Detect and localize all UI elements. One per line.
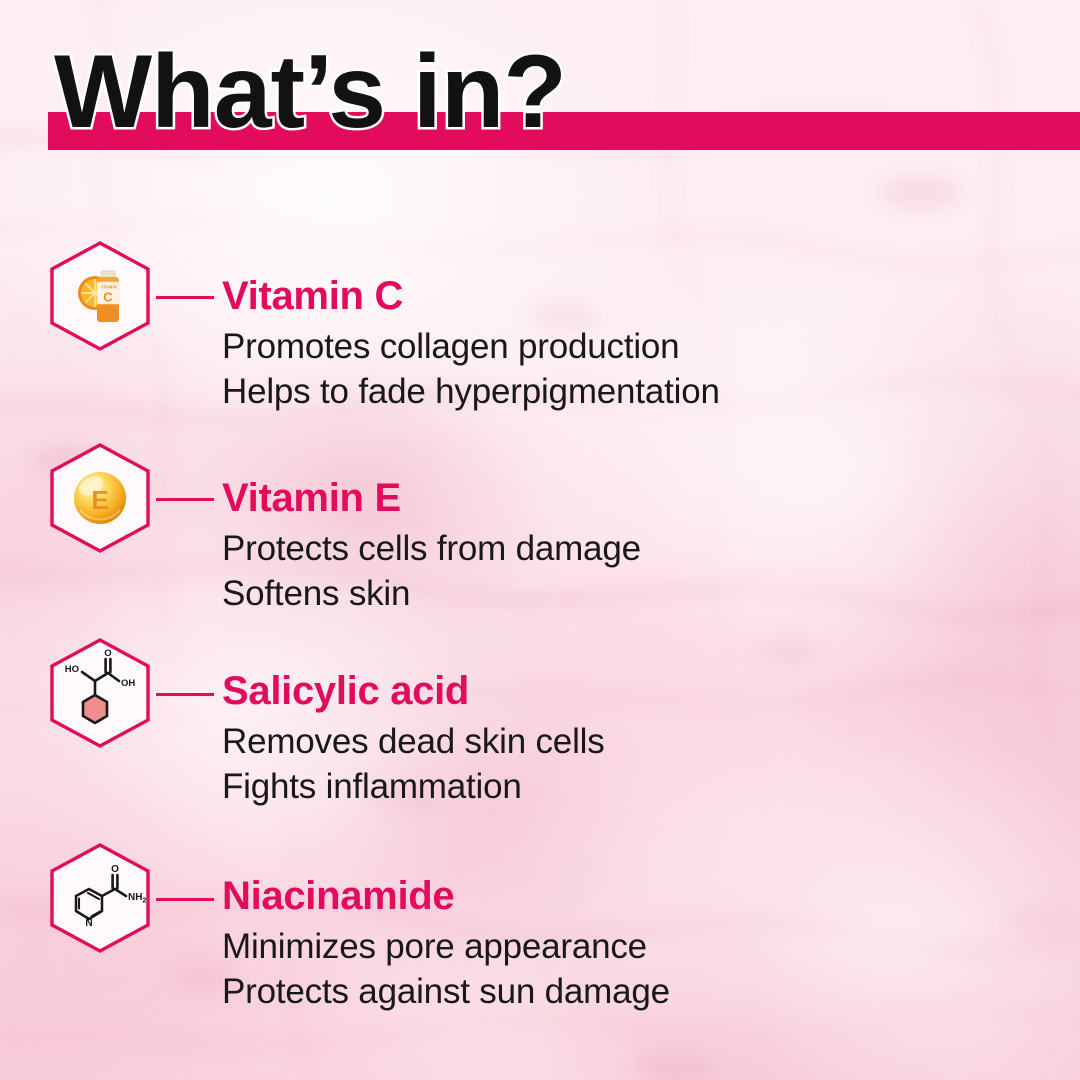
vitamin-e-capsule-icon: E: [48, 442, 152, 554]
poster-canvas: What’s in?: [0, 0, 1080, 1080]
ingredient-text-salicylic-acid: Salicylic acid Removes dead skin cells F…: [222, 671, 1002, 809]
ingredient-name: Vitamin E: [222, 478, 1002, 518]
salicylic-acid-molecule-icon: HO O OH: [48, 637, 152, 749]
label-ho: HO: [65, 664, 79, 675]
label-n: N: [85, 918, 92, 929]
ingredient-list: VITAMIN C Vitamin C Promotes collagen pr…: [0, 0, 1080, 1080]
ingredient-benefit: Minimizes pore appearance: [222, 924, 1002, 969]
connector-line-salicylic-acid: [156, 693, 214, 696]
connector-line-vitamin-c: [156, 296, 214, 299]
ingredient-benefit: Protects cells from damage: [222, 526, 1002, 571]
label-oh: OH: [121, 678, 135, 689]
connector-line-vitamin-e: [156, 498, 214, 501]
ingredient-benefit: Promotes collagen production: [222, 324, 1002, 369]
label-o: O: [104, 648, 111, 659]
svg-text:C: C: [103, 289, 113, 304]
vitamin-c-bottle-orange-icon: VITAMIN C: [48, 240, 152, 352]
ingredient-benefit: Protects against sun damage: [222, 969, 1002, 1014]
ingredient-text-vitamin-c: Vitamin C Promotes collagen production H…: [222, 276, 1002, 414]
svg-text:E: E: [91, 485, 108, 515]
ingredient-benefit: Removes dead skin cells: [222, 719, 1002, 764]
ingredient-benefit: Helps to fade hyperpigmentation: [222, 369, 1002, 414]
ingredient-text-niacinamide: Niacinamide Minimizes pore appearance Pr…: [222, 876, 1002, 1014]
ingredient-name: Niacinamide: [222, 876, 1002, 916]
ingredient-name: Vitamin C: [222, 276, 1002, 316]
ingredient-text-vitamin-e: Vitamin E Protects cells from damage Sof…: [222, 478, 1002, 616]
niacinamide-molecule-icon: O N NH2: [48, 842, 152, 954]
connector-line-niacinamide: [156, 898, 214, 901]
ingredient-benefit: Softens skin: [222, 571, 1002, 616]
label-o: O: [111, 864, 119, 875]
ingredient-benefit: Fights inflammation: [222, 764, 1002, 809]
ingredient-name: Salicylic acid: [222, 671, 1002, 711]
